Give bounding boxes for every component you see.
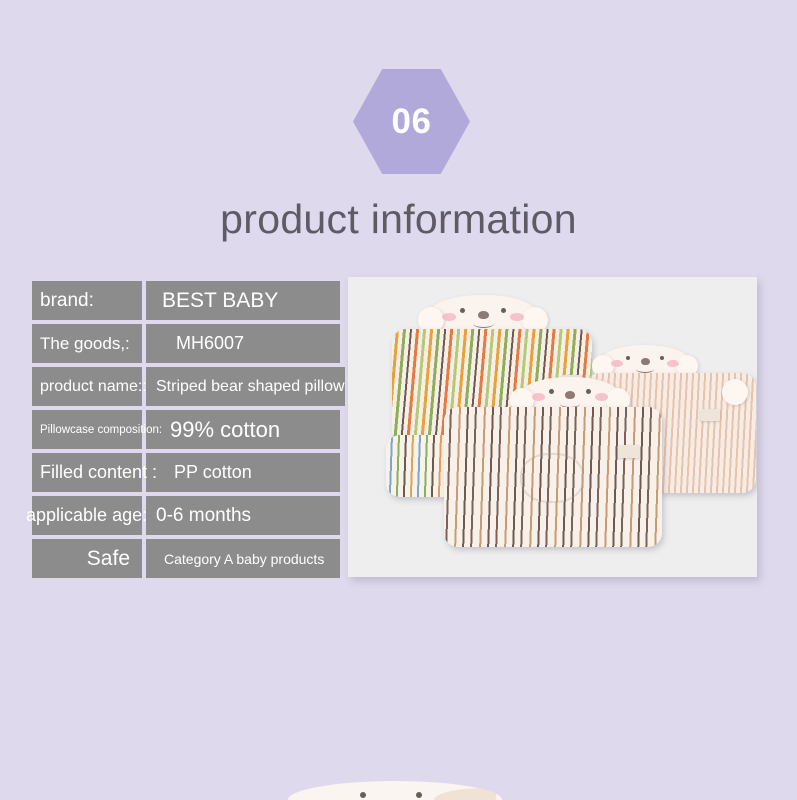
bear-cheek-right — [667, 360, 679, 367]
spec-label-cell: Safe — [32, 539, 142, 578]
table-row: brand: BEST BABY — [32, 281, 340, 320]
spec-label: brand: — [40, 290, 94, 312]
spec-value: MH6007 — [156, 333, 244, 354]
bear-cheek-left — [442, 313, 456, 321]
spec-label-cell: product name:: — [32, 367, 142, 406]
spec-label: Filled content : — [40, 462, 157, 483]
spec-value-cell: Striped bear shaped pillow — [146, 367, 345, 406]
spec-label: The goods,: — [40, 334, 130, 354]
brand-tag — [700, 409, 720, 421]
pillow-pad-front — [444, 407, 662, 547]
spec-label: applicable age: — [26, 505, 147, 526]
spec-value-cell: 0-6 months — [146, 496, 340, 535]
spec-label-cell: applicable age: — [32, 496, 142, 535]
table-row: Filled content : PP cotton — [32, 453, 340, 492]
spec-value: 0-6 months — [156, 505, 251, 527]
brand-tag — [618, 445, 640, 458]
spec-value: BEST BABY — [156, 289, 278, 313]
product-photo — [348, 277, 757, 577]
bear-cheek-left — [611, 360, 623, 367]
bear-cheek-right — [510, 313, 524, 321]
section-number: 06 — [392, 104, 432, 139]
spec-label-cell: Pillowcase composition: — [32, 410, 142, 449]
next-section-image-preview — [288, 781, 502, 800]
pillow-shade — [433, 786, 496, 800]
spec-value: Striped bear shaped pillow — [156, 378, 345, 396]
bear-snout — [478, 311, 489, 319]
spec-value-cell: 99% cotton — [146, 410, 340, 449]
section-badge: 06 — [353, 69, 470, 174]
spec-value-cell: PP cotton — [146, 453, 340, 492]
bear-eye-left — [360, 792, 366, 798]
spec-value: 99% cotton — [156, 417, 280, 443]
spec-value: PP cotton — [156, 462, 252, 483]
bear-cheek-right — [595, 393, 608, 401]
bear-mouth — [473, 319, 494, 328]
specification-table: brand: BEST BABY The goods,: MH6007 prod… — [32, 281, 340, 582]
bear-eye-right — [586, 389, 591, 394]
table-row: Pillowcase composition: 99% cotton — [32, 410, 340, 449]
spec-value-cell: MH6007 — [146, 324, 340, 363]
spec-value: Category A baby products — [156, 551, 324, 567]
bear-cheek-left — [532, 393, 545, 401]
bear-eye-right — [501, 308, 506, 313]
spec-value-cell: BEST BABY — [146, 281, 340, 320]
table-row: applicable age: 0-6 months — [32, 496, 340, 535]
hexagon-shape: 06 — [353, 69, 470, 174]
bear-eye-left — [460, 308, 465, 313]
table-row: Safe Category A baby products — [32, 539, 340, 578]
table-row: The goods,: MH6007 — [32, 324, 340, 363]
spec-label-cell: The goods,: — [32, 324, 142, 363]
table-row: product name:: Striped bear shaped pillo… — [32, 367, 340, 406]
spec-value-cell: Category A baby products — [146, 539, 340, 578]
bear-eye-left — [626, 356, 630, 360]
bear-snout — [641, 358, 650, 365]
spec-label-cell: Filled content : — [32, 453, 142, 492]
bear-eye-left — [549, 389, 554, 394]
bear-ear-corner — [722, 379, 748, 405]
bear-eye-right — [416, 792, 422, 798]
page-title: product information — [0, 196, 797, 243]
spec-label: product name:: — [40, 378, 147, 396]
spec-label: Safe — [87, 547, 130, 571]
head-rest-dimple — [520, 453, 584, 503]
bear-snout — [565, 391, 575, 399]
spec-label-cell: brand: — [32, 281, 142, 320]
bear-mouth — [636, 365, 654, 373]
spec-label: Pillowcase composition: — [40, 424, 162, 436]
bear-eye-right — [660, 356, 664, 360]
